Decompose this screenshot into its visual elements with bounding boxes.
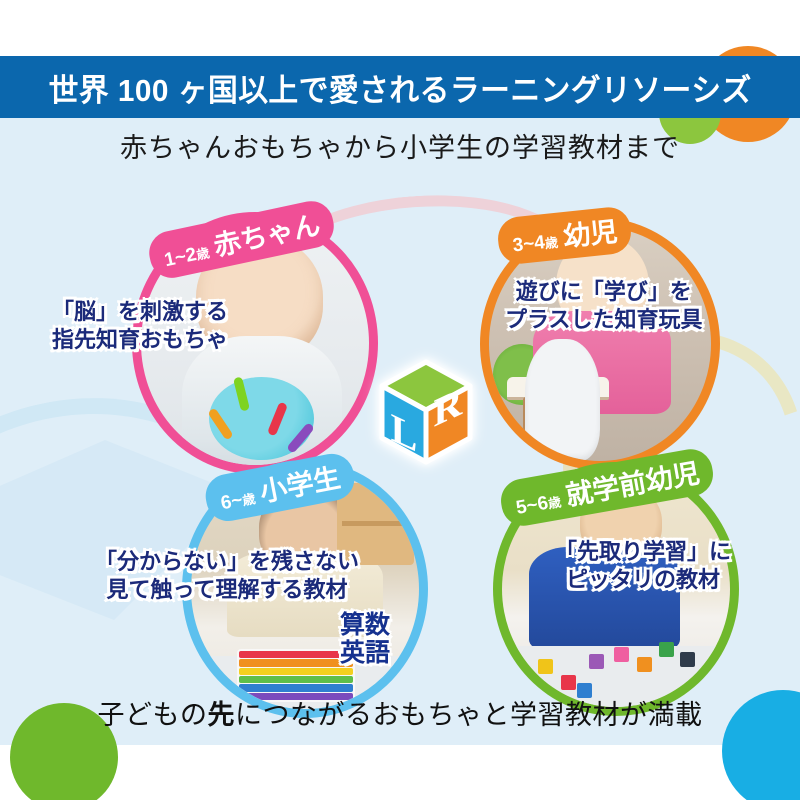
bubble-toddler-caption-line2: プラスした知育玩具: [505, 306, 703, 334]
cube-toy: [659, 642, 674, 657]
bubble-elementary-caption: 「分からない」を残さない 見て触って理解する教材: [95, 548, 359, 603]
toy-bunny-shape: [525, 339, 600, 461]
footer-text-before: 子どもの: [98, 700, 208, 730]
bubble-preschool-caption: 「先取り学習」に ピッタリの教材: [555, 538, 731, 593]
brand-logo-cube: L R: [378, 358, 474, 474]
bubble-preschool-age: 5~6歳: [514, 490, 562, 520]
cube-toy: [637, 657, 652, 672]
cube-toy: [589, 654, 604, 669]
footer-caption: 子どもの先につながるおもちゃと学習教材が満載: [0, 693, 800, 732]
cube-toy: [538, 659, 553, 674]
subject-math: 算数: [340, 612, 390, 640]
bubble-baby-caption: 「脳」を刺激する 指先知育おもちゃ: [52, 298, 228, 353]
bubble-elementary-caption-line2: 見て触って理解する教材: [95, 576, 359, 604]
footer-text-after: につながるおもちゃと学習教材が満載: [235, 700, 703, 730]
bubble-toddler-audience: 幼児: [561, 210, 619, 254]
subtitle: 赤ちゃんおもちゃから小学生の学習教材まで: [0, 126, 800, 165]
header-title: 世界 100 ヶ国以上で愛されるラーニングリソーシズ: [48, 65, 751, 110]
bottom-white-band: [0, 745, 800, 800]
toy-ball-shape: [209, 377, 314, 460]
bubble-elementary-subject-badge: 算数 英語: [340, 612, 390, 667]
top-white-band: [0, 0, 800, 56]
bubble-elementary-caption-line1: 「分からない」を残さない: [95, 548, 359, 576]
cube-toy: [561, 675, 576, 690]
cube-toy: [614, 647, 629, 662]
bubble-toddler-caption: 遊びに「学び」を プラスした知育玩具: [505, 278, 703, 333]
bubble-toddler-age: 3~4歳: [512, 231, 559, 258]
poster-root: 世界 100 ヶ国以上で愛されるラーニングリソーシズ 赤ちゃんおもちゃから小学生…: [0, 0, 800, 800]
bubble-preschool-caption-line1: 「先取り学習」に: [555, 538, 731, 566]
bubble-baby-caption-line2: 指先知育おもちゃ: [52, 326, 228, 354]
subject-english: 英語: [340, 640, 390, 668]
cube-toy: [680, 652, 695, 667]
header-bar: 世界 100 ヶ国以上で愛されるラーニングリソーシズ: [0, 56, 800, 118]
bubble-toddler-caption-line1: 遊びに「学び」を: [505, 278, 703, 306]
bubble-elementary-age: 6~歳: [219, 487, 257, 515]
bubble-preschool-caption-line2: ピッタリの教材: [555, 566, 731, 594]
footer-text-emphasis: 先: [208, 700, 236, 730]
bubble-baby-age: 1~2歳: [163, 241, 212, 272]
bubble-baby-caption-line1: 「脳」を刺激する: [52, 298, 228, 326]
